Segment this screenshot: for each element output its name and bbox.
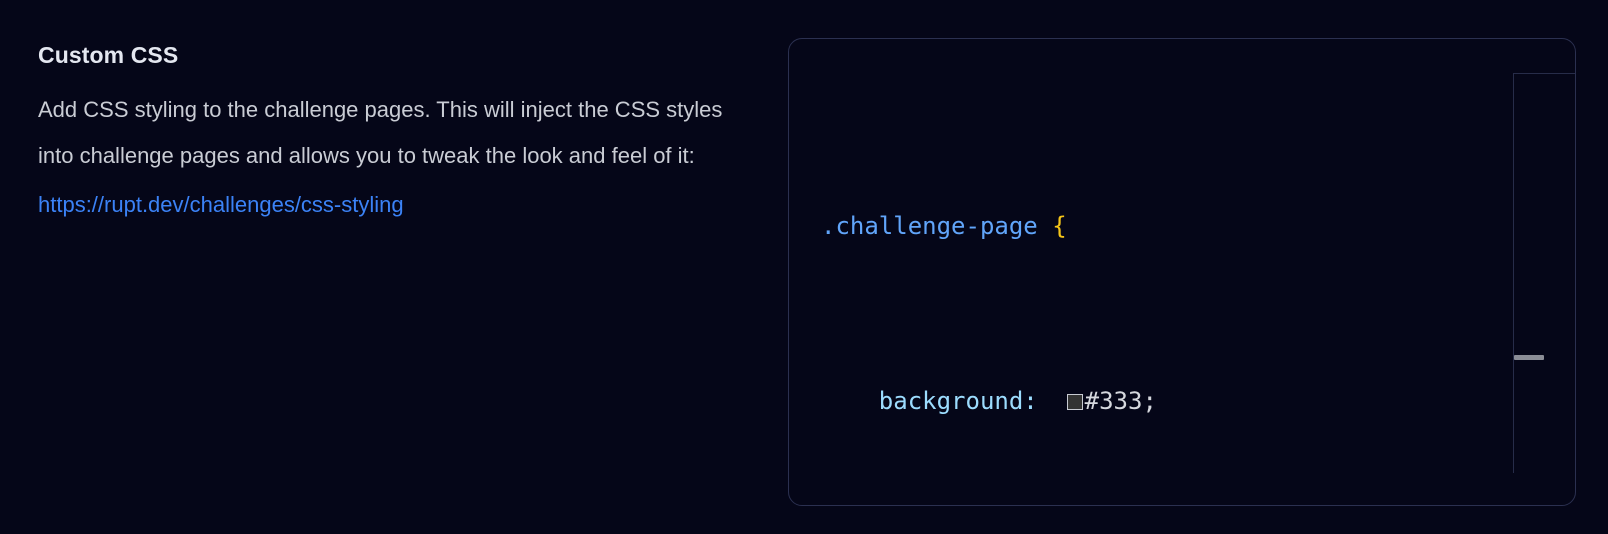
documentation-link[interactable]: https://rupt.dev/challenges/css-styling (38, 182, 404, 228)
css-property-background: background: (879, 387, 1038, 415)
css-code-editor-panel[interactable]: .challenge-page { background: #333; } .c… (788, 38, 1576, 506)
custom-css-settings-page: Custom CSS Add CSS styling to the challe… (0, 0, 1608, 534)
brace-open: { (1052, 212, 1066, 240)
editor-scroll-region[interactable]: .challenge-page { background: #333; } .c… (789, 39, 1575, 505)
css-selector-challenge-page: .challenge-page (821, 212, 1038, 240)
custom-css-info-column: Custom CSS Add CSS styling to the challe… (38, 40, 748, 228)
section-description: Add CSS styling to the challenge pages. … (38, 87, 738, 179)
minimap-top-edge (1513, 73, 1575, 74)
css-value-hex: #333; (1085, 387, 1157, 415)
code-indent (821, 387, 879, 415)
css-code-content[interactable]: .challenge-page { background: #333; } .c… (789, 69, 1575, 505)
code-space (1038, 212, 1052, 240)
code-line[interactable]: .challenge-page { (789, 209, 1575, 244)
scrollbar-thumb[interactable] (1514, 355, 1544, 360)
scrollbar-track[interactable] (1513, 73, 1514, 473)
code-space (1038, 387, 1067, 415)
code-line[interactable]: background: #333; (789, 384, 1575, 419)
page-title: Custom CSS (38, 40, 748, 70)
color-swatch-icon[interactable] (1067, 394, 1083, 410)
